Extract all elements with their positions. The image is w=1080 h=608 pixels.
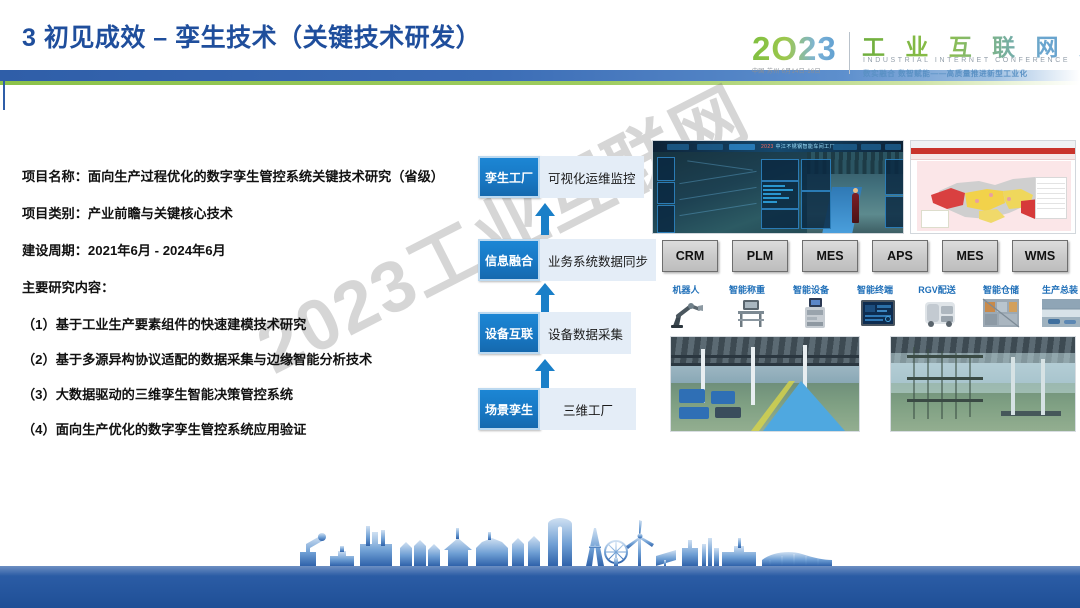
digital-twin-screenshot: 2023 中江不锈钢智能车间工厂 xyxy=(652,140,904,234)
twin-data-panel xyxy=(761,209,799,229)
factory-photo-structure xyxy=(890,336,1076,432)
research-item-1: （1）基于工业生产要素组件的快速建模技术研究 xyxy=(22,314,472,333)
smart-warehouse-icon xyxy=(978,296,1024,330)
twin-bar xyxy=(763,193,781,195)
robot-arm-icon xyxy=(663,296,709,330)
photo-beam xyxy=(907,355,983,358)
final-assembly-icon xyxy=(1038,296,1080,330)
twin-nav-pill xyxy=(833,144,857,150)
flow-arrow-up-2 xyxy=(534,282,556,314)
twin-nav-pill xyxy=(885,144,901,150)
research-item-3: （3）大数据驱动的三维孪生智能决策管控系统 xyxy=(22,384,472,403)
photo-machine xyxy=(679,407,709,419)
skyline-silhouette xyxy=(0,518,1080,568)
system-box-crm[interactable]: CRM xyxy=(662,240,718,272)
flow-desc-info-fusion: 业务系统数据同步 xyxy=(540,239,656,281)
project-category-line: 项目类别：产业前瞻与关键核心技术 xyxy=(22,203,472,222)
photo-beam xyxy=(1001,411,1061,416)
device-label-smart-terminal: 智能终端 xyxy=(846,283,904,296)
twin-data-panel xyxy=(801,159,831,191)
device-label-rgv-delivery: RGV配送 xyxy=(908,283,966,296)
conference-logo: 2O23 中国·苏州 6月14日-16日 工 业 互 联 网 大 会 INDUS… xyxy=(752,28,1072,84)
map-data-table xyxy=(1035,177,1067,219)
smart-terminal-icon xyxy=(855,296,901,330)
project-period-line: 建设周期：2021年6月 - 2024年6月 xyxy=(22,240,472,259)
photo-column xyxy=(1011,357,1015,415)
twin-bar xyxy=(763,189,793,191)
flow-desc-device-interconnect: 设备数据采集 xyxy=(540,312,631,354)
device-label-smart-scale: 智能称重 xyxy=(718,283,776,296)
twin-nav-pill-active xyxy=(729,144,755,150)
visual-panel: 2023 中江不锈钢智能车间工厂 xyxy=(652,140,1076,436)
system-box-mes-1[interactable]: MES xyxy=(802,240,858,272)
smart-scale-icon xyxy=(728,296,774,330)
footer-water-band xyxy=(0,566,1080,608)
system-box-aps[interactable]: APS xyxy=(872,240,928,272)
map-table-row xyxy=(1037,198,1065,199)
twin-bar xyxy=(763,197,789,199)
logo-name-en: INDUSTRIAL INTERNET CONFERENCE xyxy=(863,57,1070,64)
twin-hud-panel xyxy=(657,205,675,233)
photo-rack xyxy=(941,351,943,419)
project-name-line: 项目名称：面向生产过程优化的数字孪生管控系统关键技术研究（省级） xyxy=(22,166,472,185)
map-table-row xyxy=(1037,203,1065,204)
photo-machine xyxy=(711,391,735,404)
smart-equipment-icon xyxy=(792,296,838,330)
photo-beam xyxy=(907,377,983,380)
flow-row-scene-twin: 场景孪生 三维工厂 xyxy=(478,388,636,430)
twin-data-panel xyxy=(801,191,831,229)
twin-bar xyxy=(763,201,777,203)
twin-screen-title: 2023 中江不锈钢智能车间工厂 xyxy=(761,143,835,150)
photo-walkway xyxy=(745,381,859,431)
photo-beam xyxy=(671,363,859,366)
flow-arrow-up-3 xyxy=(534,358,556,390)
photo-rack xyxy=(955,353,957,419)
twin-data-panel xyxy=(885,159,904,195)
page-title: 3 初见成效 – 孪生技术（关键技术研发） xyxy=(22,18,481,54)
china-map-dashboard xyxy=(910,140,1076,234)
map-sub-bar xyxy=(911,154,1075,160)
photo-machine xyxy=(679,389,705,403)
twin-data-panel xyxy=(761,159,799,181)
logo-slogan: 数实融合 数智赋能——高质量推进新型工业化 xyxy=(863,68,1028,79)
twin-bar xyxy=(763,185,785,187)
twin-nav-pill xyxy=(861,144,881,150)
flow-tag-device-interconnect: 设备互联 xyxy=(478,312,540,354)
project-info-block: 项目名称：面向生产过程优化的数字孪生管控系统关键技术研究（省级） 项目类别：产业… xyxy=(22,166,472,454)
map-table-row xyxy=(1037,188,1065,189)
device-label-smart-equipment: 智能设备 xyxy=(782,283,840,296)
flow-arrow-up-1 xyxy=(534,202,556,236)
flow-tag-scene-twin: 场景孪生 xyxy=(478,388,540,430)
map-canvas xyxy=(917,161,1071,231)
system-box-mes-2[interactable]: MES xyxy=(942,240,998,272)
flow-row-twin-factory: 孪生工厂 可视化运维监控 xyxy=(478,156,644,198)
research-item-4: （4）面向生产优化的数字孪生管控系统应用验证 xyxy=(22,419,472,438)
flow-row-device-interconnect: 设备互联 设备数据采集 xyxy=(478,312,631,354)
footer-decoration xyxy=(0,518,1080,608)
photo-rack xyxy=(969,355,971,417)
map-table-row xyxy=(1037,208,1065,209)
flow-tag-twin-factory: 孪生工厂 xyxy=(478,156,540,198)
system-box-plm[interactable]: PLM xyxy=(732,240,788,272)
rgv-delivery-icon xyxy=(917,296,963,330)
flow-desc-scene-twin: 三维工厂 xyxy=(540,388,636,430)
twin-hud-panel xyxy=(657,157,675,181)
twin-data-panel xyxy=(885,196,904,228)
flow-tag-info-fusion: 信息融合 xyxy=(478,239,540,281)
factory-photo-workshop xyxy=(670,336,860,432)
twin-title-prefix: 2023 xyxy=(761,144,774,150)
header-left-rule xyxy=(3,70,5,110)
photo-beam xyxy=(671,355,859,358)
map-table-row xyxy=(1037,193,1065,194)
device-label-smart-warehouse: 智能仓储 xyxy=(972,283,1030,296)
twin-nav-pill xyxy=(697,144,723,150)
architecture-flow: 孪生工厂 可视化运维监控 信息融合 业务系统数据同步 设备互联 设备数据采集 场… xyxy=(478,156,648,426)
map-legend xyxy=(921,210,949,228)
research-content-label: 主要研究内容： xyxy=(22,277,472,296)
twin-nav-pill xyxy=(667,144,689,150)
photo-column xyxy=(1041,359,1045,415)
research-item-2: （2）基于多源异构协议适配的数据采集与边缘智能分析技术 xyxy=(22,349,472,368)
photo-machine xyxy=(715,407,741,418)
twin-title-text: 中江不锈钢智能车间工厂 xyxy=(776,144,835,150)
device-label-robot: 机器人 xyxy=(660,283,712,296)
twin-worker-figure xyxy=(852,193,859,223)
flow-row-info-fusion: 信息融合 业务系统数据同步 xyxy=(478,239,656,281)
flow-desc-twin-factory: 可视化运维监控 xyxy=(540,156,644,198)
twin-hud-panel xyxy=(657,182,675,204)
logo-year: 2O23 xyxy=(752,30,837,68)
photo-glass-wall xyxy=(891,353,1075,393)
device-label-final-assembly: 生产总装 xyxy=(1034,283,1080,296)
slide-header: 3 初见成效 – 孪生技术（关键技术研发） 2O23 中国·苏州 6月14日-1… xyxy=(0,0,1080,100)
system-box-wms[interactable]: WMS xyxy=(1012,240,1068,272)
logo-divider xyxy=(849,32,850,74)
photo-rack xyxy=(927,349,929,419)
logo-date: 中国·苏州 6月14日-16日 xyxy=(752,66,821,75)
photo-beam xyxy=(907,399,983,402)
map-table-row xyxy=(1037,183,1065,184)
